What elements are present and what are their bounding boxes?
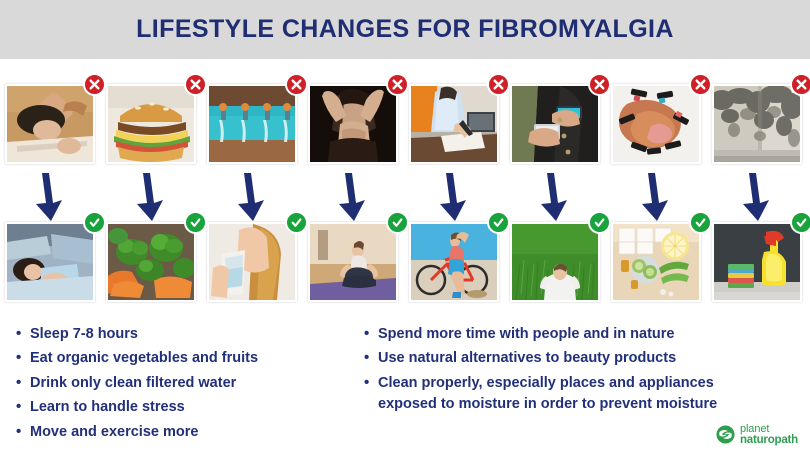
down-arrow-icon bbox=[331, 171, 375, 223]
list-item: Spend more time with people and in natur… bbox=[362, 324, 762, 345]
column-social-nature bbox=[505, 59, 606, 321]
down-arrow bbox=[230, 171, 274, 223]
check-badge bbox=[184, 211, 207, 234]
adopt-card-cleaning-spray-and-sponges bbox=[712, 222, 802, 302]
check-mark-icon bbox=[290, 216, 303, 229]
x-badge bbox=[184, 73, 207, 96]
avoid-card-stressed-woman-holding-head bbox=[308, 84, 398, 164]
down-arrow bbox=[533, 171, 577, 223]
list-item: Sleep 7-8 hours bbox=[14, 324, 364, 345]
thumb-stressed-woman-holding-head bbox=[310, 86, 396, 162]
x-mark-icon bbox=[189, 78, 202, 91]
x-badge bbox=[386, 73, 409, 96]
down-arrow-icon bbox=[735, 171, 779, 223]
thumb-running-tap-water bbox=[209, 86, 295, 162]
down-arrow-icon bbox=[432, 171, 476, 223]
adopt-card-person-lying-in-grass-field bbox=[510, 222, 600, 302]
thumb-broccoli-and-carrots bbox=[108, 224, 194, 300]
check-mark-icon bbox=[694, 216, 707, 229]
avoid-card-fast-food-burger bbox=[106, 84, 196, 164]
x-mark-icon bbox=[492, 78, 505, 91]
down-arrow bbox=[432, 171, 476, 223]
column-beauty-products bbox=[606, 59, 707, 321]
check-badge bbox=[689, 211, 712, 234]
recommendation-lists: Sleep 7-8 hours Eat organic vegetables a… bbox=[0, 322, 810, 455]
down-arrow-icon bbox=[129, 171, 173, 223]
thumb-natural-beauty-ingredients bbox=[613, 224, 699, 300]
check-badge bbox=[487, 211, 510, 234]
column-exercise bbox=[404, 59, 505, 321]
page-title: LIFESTYLE CHANGES FOR FIBROMYALGIA bbox=[136, 15, 674, 44]
down-arrow-icon bbox=[634, 171, 678, 223]
avoid-card-man-sitting-at-desk bbox=[409, 84, 499, 164]
x-badge bbox=[83, 73, 106, 96]
list-item: Clean properly, especially places and ap… bbox=[362, 373, 762, 416]
down-arrow-icon bbox=[230, 171, 274, 223]
x-badge bbox=[487, 73, 510, 96]
x-badge bbox=[588, 73, 611, 96]
x-mark-icon bbox=[795, 78, 808, 91]
avoid-card-spilled-makeup-cosmetics bbox=[611, 84, 701, 164]
list-left: Sleep 7-8 hours Eat organic vegetables a… bbox=[14, 324, 364, 446]
leaf-swirl-icon bbox=[716, 425, 735, 444]
down-arrow bbox=[634, 171, 678, 223]
list-item: Eat organic vegetables and fruits bbox=[14, 348, 364, 369]
adopt-card-woman-drinking-water bbox=[207, 222, 297, 302]
down-arrow bbox=[129, 171, 173, 223]
check-mark-icon bbox=[593, 216, 606, 229]
down-arrow bbox=[735, 171, 779, 223]
brand-logo: planet naturopath bbox=[716, 424, 798, 447]
x-mark-icon bbox=[290, 78, 303, 91]
adopt-card-woman-sleeping-in-bed bbox=[5, 222, 95, 302]
check-badge bbox=[285, 211, 308, 234]
down-arrow bbox=[331, 171, 375, 223]
logo-text: planet naturopath bbox=[740, 424, 798, 447]
x-mark-icon bbox=[88, 78, 101, 91]
list-item: Move and exercise more bbox=[14, 422, 364, 443]
avoid-card-people-using-smartphones bbox=[510, 84, 600, 164]
header-band: LIFESTYLE CHANGES FOR FIBROMYALGIA bbox=[0, 0, 810, 59]
x-badge bbox=[689, 73, 712, 96]
adopt-card-broccoli-and-carrots bbox=[106, 222, 196, 302]
check-badge bbox=[588, 211, 611, 234]
x-mark-icon bbox=[694, 78, 707, 91]
x-badge bbox=[285, 73, 308, 96]
logo-line-2: naturopath bbox=[740, 435, 798, 447]
thumb-spilled-makeup-cosmetics bbox=[613, 86, 699, 162]
x-badge bbox=[790, 73, 810, 96]
thumb-woman-sleeping-in-bed bbox=[7, 224, 93, 300]
thumb-people-using-smartphones bbox=[512, 86, 598, 162]
list-item: Use natural alternatives to beauty produ… bbox=[362, 348, 762, 369]
infographic-page: LIFESTYLE CHANGES FOR FIBROMYALGIA bbox=[0, 0, 810, 455]
check-mark-icon bbox=[795, 216, 808, 229]
column-stress bbox=[303, 59, 404, 321]
thumb-cleaning-spray-and-sponges bbox=[714, 224, 800, 300]
thumb-mouldy-damp-wall bbox=[714, 86, 800, 162]
thumb-cyclist-drinking-water bbox=[411, 224, 497, 300]
check-mark-icon bbox=[492, 216, 505, 229]
thumb-person-asleep-on-book bbox=[7, 86, 93, 162]
avoid-card-running-tap-water bbox=[207, 84, 297, 164]
down-arrow-icon bbox=[533, 171, 577, 223]
check-mark-icon bbox=[391, 216, 404, 229]
thumb-person-lying-in-grass-field bbox=[512, 224, 598, 300]
adopt-card-cyclist-drinking-water bbox=[409, 222, 499, 302]
column-cleaning-mould bbox=[707, 59, 808, 321]
x-mark-icon bbox=[391, 78, 404, 91]
check-mark-icon bbox=[189, 216, 202, 229]
list-item: Drink only clean filtered water bbox=[14, 373, 364, 394]
check-mark-icon bbox=[88, 216, 101, 229]
x-mark-icon bbox=[593, 78, 606, 91]
avoid-card-person-asleep-on-book bbox=[5, 84, 95, 164]
check-badge bbox=[386, 211, 409, 234]
down-arrow bbox=[28, 171, 72, 223]
thumb-woman-meditating-yoga bbox=[310, 224, 396, 300]
avoid-card-mouldy-damp-wall bbox=[712, 84, 802, 164]
logo-line-1: planet bbox=[740, 424, 798, 435]
adopt-card-woman-meditating-yoga bbox=[308, 222, 398, 302]
check-badge bbox=[83, 211, 106, 234]
column-sleep bbox=[0, 59, 101, 321]
thumb-man-sitting-at-desk bbox=[411, 86, 497, 162]
column-diet bbox=[101, 59, 202, 321]
check-badge bbox=[790, 211, 810, 234]
down-arrow-icon bbox=[28, 171, 72, 223]
list-item: Learn to handle stress bbox=[14, 397, 364, 418]
thumb-fast-food-burger bbox=[108, 86, 194, 162]
adopt-card-natural-beauty-ingredients bbox=[611, 222, 701, 302]
comparison-grid bbox=[0, 59, 810, 321]
thumb-woman-drinking-water bbox=[209, 224, 295, 300]
column-water bbox=[202, 59, 303, 321]
list-right: Spend more time with people and in natur… bbox=[362, 324, 762, 419]
